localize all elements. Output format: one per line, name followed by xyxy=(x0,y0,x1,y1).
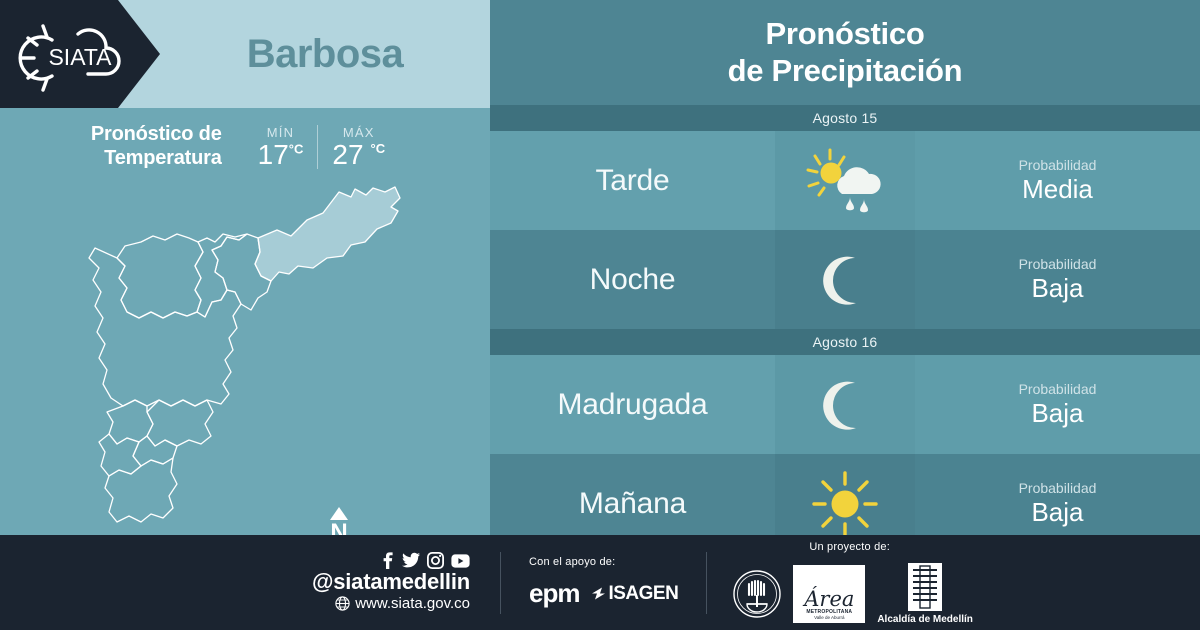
probability-value: Baja xyxy=(1031,399,1083,429)
support-caption: Con el apoyo de: xyxy=(529,556,678,568)
project-caption: Un proyecto de: xyxy=(809,541,973,553)
forecast-row-tarde: Tarde Pro xyxy=(490,131,1200,230)
siata-logo-pennant: SIATA xyxy=(0,0,160,108)
udea-seal-icon xyxy=(733,570,781,618)
area-logo-script: Área xyxy=(804,590,854,609)
alcaldia-mark-icon xyxy=(908,563,942,611)
forecast-title-line2: de Precipitación xyxy=(728,53,963,90)
probability-value: Baja xyxy=(1031,274,1083,304)
brand-bar: SIATA Barbosa xyxy=(0,0,490,108)
map-region-medellin xyxy=(89,248,241,406)
cloud-body xyxy=(837,167,880,194)
support-block: Con el apoyo de: epm ISAGEN xyxy=(501,556,706,609)
raindrop-2 xyxy=(860,199,868,212)
forecast-probability-madrugada: Probabilidad Baja xyxy=(915,355,1200,454)
temperature-min-number: 17 xyxy=(258,139,289,170)
forecast-row-noche: Noche Probabilidad Baja xyxy=(490,230,1200,329)
map-region-caldas xyxy=(105,458,177,522)
map-region-copacabana xyxy=(195,234,247,317)
instagram-icon[interactable] xyxy=(427,552,444,569)
probability-label: Probabilidad xyxy=(1019,380,1097,398)
moon-icon xyxy=(810,370,880,440)
forecast-probability-noche: Probabilidad Baja xyxy=(915,230,1200,329)
social-block: @siatamedellin www.siata.gov.co xyxy=(0,552,500,612)
temperature-title-line2: Temperatura xyxy=(91,147,222,171)
weather-forecast-card: SIATA Barbosa Pronóstico de Temperatura … xyxy=(0,0,1200,630)
forecast-title-line1: Pronóstico xyxy=(766,16,925,53)
epm-logo: epm xyxy=(529,578,579,609)
temperature-title-line1: Pronóstico de xyxy=(91,123,222,147)
globe-icon xyxy=(335,596,350,611)
footer: @siatamedellin www.siata.gov.co Con el a… xyxy=(0,535,1200,630)
isagen-mark-icon xyxy=(591,586,606,601)
moon-icon xyxy=(810,245,880,315)
forecast-probability-tarde: Probabilidad Media xyxy=(915,131,1200,230)
twitter-icon[interactable] xyxy=(402,552,420,569)
forecast-icon-cell-noche xyxy=(775,230,915,329)
probability-label: Probabilidad xyxy=(1019,156,1097,174)
valley-map: N xyxy=(55,180,435,530)
temperature-min-unit: °C xyxy=(289,141,304,156)
sun-disc xyxy=(821,162,842,183)
municipalities-map-svg xyxy=(55,180,435,530)
forecast-time-madrugada: Madrugada xyxy=(490,355,775,454)
isagen-text: ISAGEN xyxy=(608,583,678,605)
date-band-agosto-15: Agosto 15 xyxy=(490,105,1200,131)
temperature-max-number: 27 xyxy=(332,139,363,170)
siata-sun-cloud-logo-icon: SIATA xyxy=(10,14,138,94)
alcaldia-logo: Alcaldía de Medellín xyxy=(877,563,973,625)
map-region-envigado xyxy=(147,400,213,446)
facebook-icon[interactable] xyxy=(380,552,395,569)
temperature-max-value: 27°C xyxy=(332,140,385,169)
probability-label: Probabilidad xyxy=(1019,255,1097,273)
temperature-values: MÍN 17°C MÁX 27°C xyxy=(244,125,400,169)
youtube-icon[interactable] xyxy=(451,554,470,568)
social-icons xyxy=(380,552,470,569)
temperature-min: MÍN 17°C xyxy=(244,125,318,169)
probability-value: Baja xyxy=(1031,498,1083,528)
left-panel: SIATA Barbosa Pronóstico de Temperatura … xyxy=(0,0,490,535)
temperature-min-label: MÍN xyxy=(258,125,304,140)
temperature-title: Pronóstico de Temperatura xyxy=(91,123,222,170)
map-region-bello xyxy=(117,234,203,318)
probability-label: Probabilidad xyxy=(1019,479,1097,497)
temperature-header: Pronóstico de Temperatura MÍN 17°C MÁX 2… xyxy=(0,112,490,182)
raindrop-1 xyxy=(846,197,854,210)
temperature-max-unit: °C xyxy=(371,141,386,156)
project-logos: Área METROPOLITANA Valle de Aburrá xyxy=(733,563,973,625)
project-block: Un proyecto de: Área METROPOLITANA Valle… xyxy=(707,541,973,625)
forecast-icon-cell-madrugada xyxy=(775,355,915,454)
date-band-agosto-16: Agosto 16 xyxy=(490,329,1200,355)
alcaldia-label: Alcaldía de Medellín xyxy=(877,614,973,625)
forecast-time-noche: Noche xyxy=(490,230,775,329)
sun-rain-cloud-icon xyxy=(800,146,890,216)
area-logo-sub2: Valle de Aburrá xyxy=(814,615,844,620)
probability-value: Media xyxy=(1022,175,1093,205)
website-link[interactable]: www.siata.gov.co xyxy=(335,595,470,613)
temperature-max-label: MÁX xyxy=(332,125,385,140)
support-logos: epm ISAGEN xyxy=(529,578,678,609)
forecast-row-madrugada: Madrugada Probabilidad Baja xyxy=(490,355,1200,454)
website-text: www.siata.gov.co xyxy=(355,595,470,613)
forecast-time-tarde: Tarde xyxy=(490,131,775,230)
social-handle[interactable]: @siatamedellin xyxy=(312,570,470,594)
precipitation-panel: Pronóstico de Precipitación Agosto 15 Ta… xyxy=(490,0,1200,535)
temperature-max: MÁX 27°C xyxy=(317,125,399,169)
area-metropolitana-logo: Área METROPOLITANA Valle de Aburrá xyxy=(793,565,865,623)
sun-icon xyxy=(806,465,884,543)
temperature-min-value: 17°C xyxy=(258,140,304,169)
map-region-barbosa xyxy=(255,187,400,281)
siata-logo-text: SIATA xyxy=(48,44,112,70)
forecast-icon-cell-tarde xyxy=(775,131,915,230)
isagen-logo: ISAGEN xyxy=(591,583,678,605)
forecast-title: Pronóstico de Precipitación xyxy=(490,0,1200,105)
city-title: Barbosa xyxy=(160,0,490,108)
